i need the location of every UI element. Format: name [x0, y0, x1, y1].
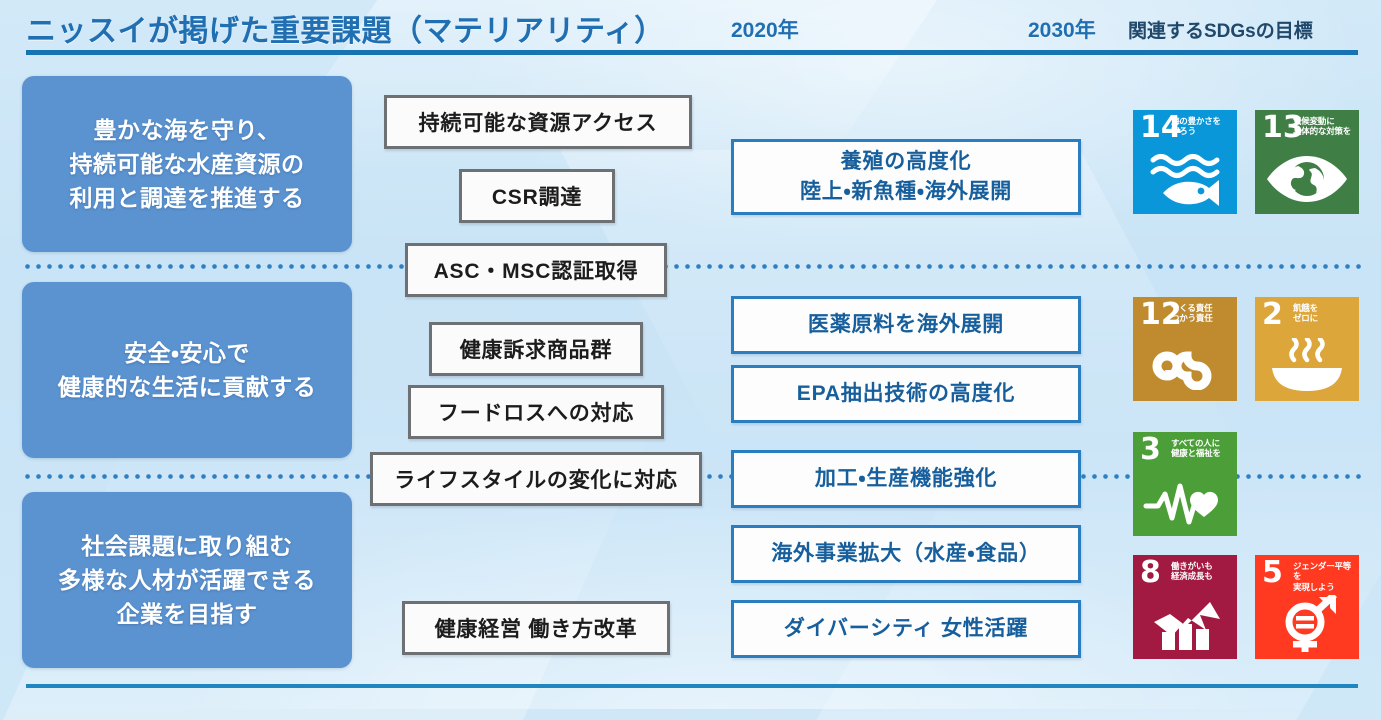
row-separator-1 — [22, 264, 1362, 269]
target-2030-5-text: 海外事業拡大（水産・食品） — [771, 539, 1041, 569]
materiality-card-1: 豊かな海を守り、持続可能な水産資源の利用と調達を推進する — [22, 76, 352, 252]
sdg-goal-12[interactable]: 12 つくる責任つかう責任 — [1133, 297, 1237, 401]
sdg-goal-8-caption: 働きがいも経済成長も — [1171, 561, 1234, 582]
sdg-goal-2-number: 2 — [1262, 300, 1283, 330]
materiality-infographic: ニッスイが掲げた重要課題（マテリアリティ） 2020年 2030年 関連するSD… — [0, 0, 1381, 709]
sdg-goal-3[interactable]: 3 すべての人に健康と福祉を — [1133, 432, 1237, 536]
sdg-goal-2[interactable]: 2 飢餓をゼロに — [1255, 297, 1359, 401]
sdg-goal-14-caption: 海の豊かさを守ろう — [1171, 116, 1234, 137]
footer-rule — [26, 684, 1358, 688]
sdg-goal-8[interactable]: 8 働きがいも経済成長も — [1133, 555, 1237, 659]
materiality-card-3-text: 社会課題に取り組む多様な人材が活躍できる企業を目指す — [58, 529, 316, 631]
materiality-card-3: 社会課題に取り組む多様な人材が活躍できる企業を目指す — [22, 492, 352, 668]
target-2030-4[interactable]: 加工・生産機能強化 — [731, 450, 1081, 508]
initiative-2020-2[interactable]: CSR調達 — [459, 169, 615, 223]
target-2030-2[interactable]: 医薬原料を海外展開 — [731, 296, 1081, 354]
target-2030-3-text: EPA抽出技術の高度化 — [797, 379, 1015, 409]
materiality-card-2: 安全・安心で健康的な生活に貢献する — [22, 282, 352, 458]
materiality-card-1-text: 豊かな海を守り、持続可能な水産資源の利用と調達を推進する — [70, 113, 305, 215]
target-2030-4-text: 加工・生産機能強化 — [815, 464, 997, 494]
growth-chart-icon — [1133, 594, 1237, 654]
target-2030-1[interactable]: 養殖の高度化陸上・新魚種・海外展開 — [731, 139, 1081, 215]
initiative-2020-6[interactable]: ライフスタイルの変化に対応 — [370, 452, 702, 506]
target-2030-1-text: 養殖の高度化陸上・新魚種・海外展開 — [800, 147, 1012, 207]
sdg-goal-5-number: 5 — [1262, 558, 1283, 588]
sdg-goal-5-caption: ジェンダー平等を実現しよう — [1293, 561, 1356, 592]
sdg-goal-12-caption: つくる責任つかう責任 — [1171, 303, 1234, 324]
gender-equality-icon — [1255, 594, 1359, 654]
target-2030-2-text: 医薬原料を海外展開 — [808, 310, 1004, 340]
initiative-2020-3[interactable]: ASC・MSC認証取得 — [405, 243, 667, 297]
eye-globe-icon — [1255, 149, 1359, 209]
column-header-sdg: 関連するSDGsの目標 — [1128, 16, 1313, 43]
fish-waves-icon — [1133, 149, 1237, 209]
column-header-2020: 2020年 — [731, 14, 799, 44]
sdg-goal-5[interactable]: 5 ジェンダー平等を実現しよう — [1255, 555, 1359, 659]
target-2030-6-text: ダイバーシティ 女性活躍 — [784, 614, 1028, 644]
steaming-bowl-icon — [1255, 336, 1359, 396]
initiative-2020-1[interactable]: 持続可能な資源アクセス — [384, 95, 692, 149]
column-header-2030: 2030年 — [1028, 14, 1096, 44]
target-2030-6[interactable]: ダイバーシティ 女性活躍 — [731, 600, 1081, 658]
materiality-card-2-text: 安全・安心で健康的な生活に貢献する — [58, 336, 317, 404]
infinity-icon — [1133, 336, 1237, 396]
sdg-goal-3-number: 3 — [1140, 435, 1161, 465]
sdg-goal-3-caption: すべての人に健康と福祉を — [1171, 438, 1234, 459]
target-2030-5[interactable]: 海外事業拡大（水産・食品） — [731, 525, 1081, 583]
sdg-goal-2-caption: 飢餓をゼロに — [1293, 303, 1356, 324]
initiative-2020-4[interactable]: 健康訴求商品群 — [429, 322, 643, 376]
sdg-goal-8-number: 8 — [1140, 558, 1161, 588]
heartbeat-icon — [1133, 471, 1237, 531]
page-title: ニッスイが掲げた重要課題（マテリアリティ） — [26, 6, 665, 50]
sdg-goal-14[interactable]: 14 海の豊かさを守ろう — [1133, 110, 1237, 214]
sdg-goal-13-caption: 気候変動に具体的な対策を — [1293, 116, 1356, 137]
sdg-goal-13[interactable]: 13 気候変動に具体的な対策を — [1255, 110, 1359, 214]
header-rule — [26, 50, 1358, 55]
target-2030-3[interactable]: EPA抽出技術の高度化 — [731, 365, 1081, 423]
initiative-2020-5[interactable]: フードロスへの対応 — [408, 385, 664, 439]
initiative-2020-7[interactable]: 健康経営 働き方改革 — [402, 601, 670, 655]
